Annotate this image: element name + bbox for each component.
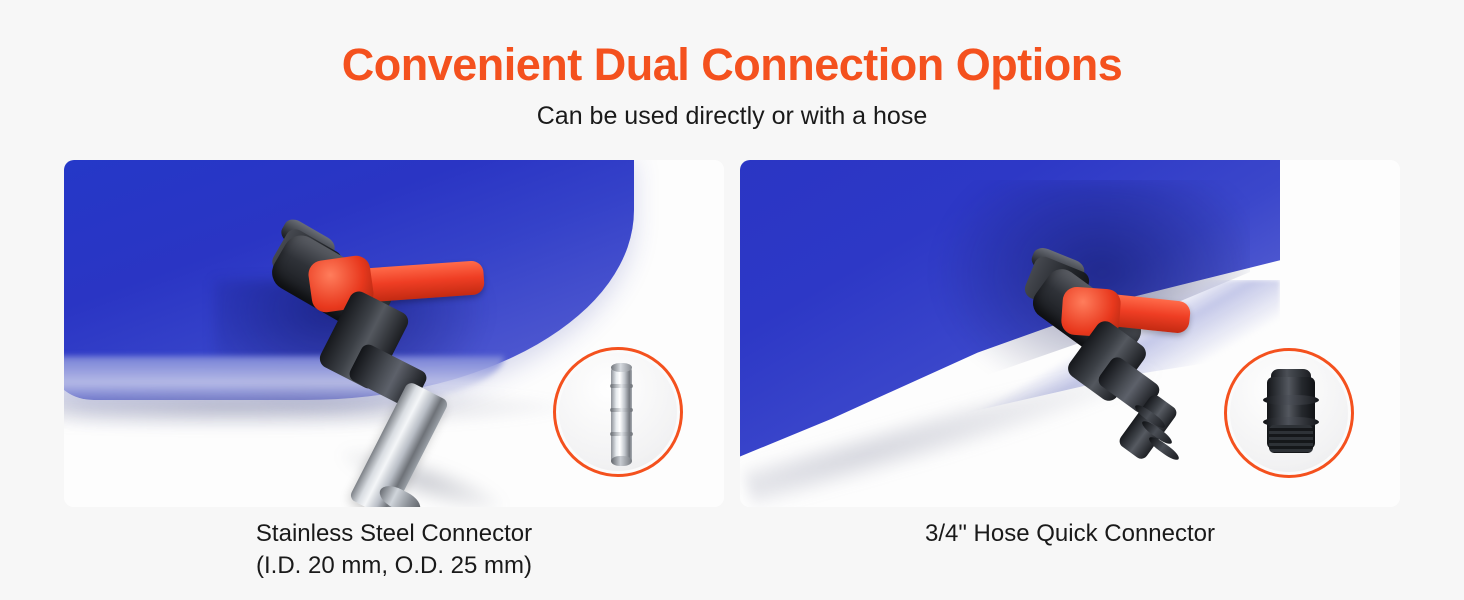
caption-left: Stainless Steel Connector (I.D. 20 mm, O… <box>64 518 724 583</box>
page-subtitle: Can be used directly or with a hose <box>0 100 1464 133</box>
caption-right-line1: 3/4" Hose Quick Connector <box>740 518 1400 550</box>
steel-connector-top <box>611 363 632 372</box>
promo-banner: Convenient Dual Connection Options Can b… <box>0 0 1464 600</box>
steel-connector-band <box>610 432 633 436</box>
surface-shadow <box>64 392 574 430</box>
inset-circle-right <box>1224 348 1354 478</box>
inset-circle-left <box>553 347 683 477</box>
caption-right: 3/4" Hose Quick Connector <box>740 518 1400 550</box>
page-title: Convenient Dual Connection Options <box>0 40 1464 90</box>
steel-connector-band <box>610 408 633 412</box>
steel-connector-icon <box>611 367 632 463</box>
hose-connector-ring <box>1263 395 1319 405</box>
product-photo-left <box>64 160 724 507</box>
caption-left-line2: (I.D. 20 mm, O.D. 25 mm) <box>64 550 724 582</box>
steel-connector-bottom <box>611 456 632 466</box>
product-photo-right <box>740 160 1400 507</box>
photo-scene-right <box>740 160 1400 507</box>
steel-connector-band <box>610 384 633 388</box>
photo-scene-left <box>64 160 724 507</box>
hose-connector-thread <box>1269 425 1313 453</box>
caption-left-line1: Stainless Steel Connector <box>64 518 724 550</box>
